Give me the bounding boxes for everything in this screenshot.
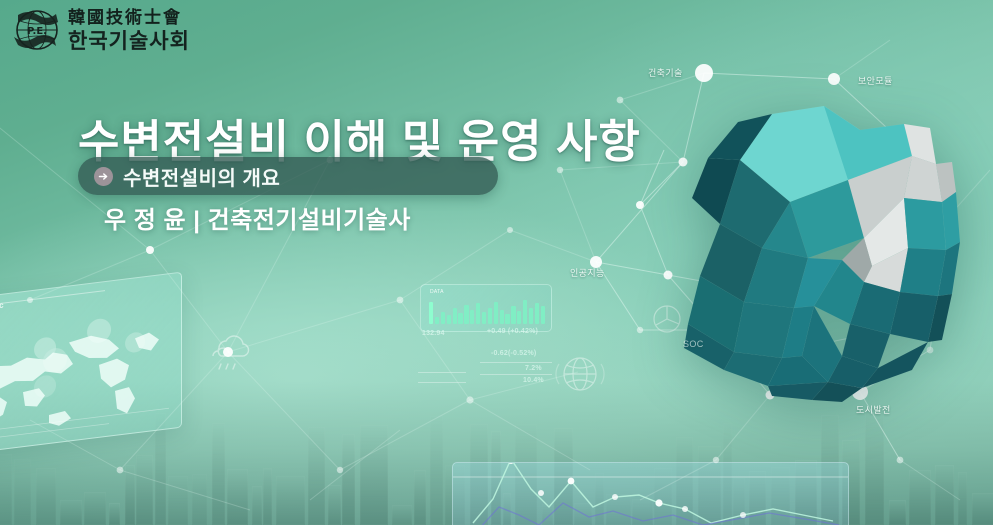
network-label-3: SOC: [683, 339, 704, 349]
low-poly-sphere-graphic: [612, 52, 972, 402]
svg-text:P.E.: P.E.: [27, 26, 47, 37]
presenter-name: 우 정 윤 | 건축전기설비기술사: [104, 200, 411, 235]
circle-arrow-right-icon: [94, 167, 113, 186]
presentation-title-slide: Infographic: [0, 0, 993, 525]
logo-hanja-text: 韓國技術士會: [68, 10, 190, 27]
network-label-0: 건축기술: [648, 66, 683, 79]
logo-hangul-text: 한국기술사회: [68, 31, 190, 52]
network-label-2: 인공지능: [570, 266, 605, 279]
network-label-4: 도시발전: [856, 403, 891, 416]
section-label: 수변전설비의 개요: [123, 162, 280, 191]
network-label-1: 보안모듈: [858, 74, 893, 87]
section-label-bar[interactable]: 수변전설비의 개요: [78, 157, 498, 195]
pe-emblem-icon: P.E.: [14, 7, 60, 53]
organization-logo: P.E. 韓國技術士會 한국기술사회: [14, 7, 190, 53]
